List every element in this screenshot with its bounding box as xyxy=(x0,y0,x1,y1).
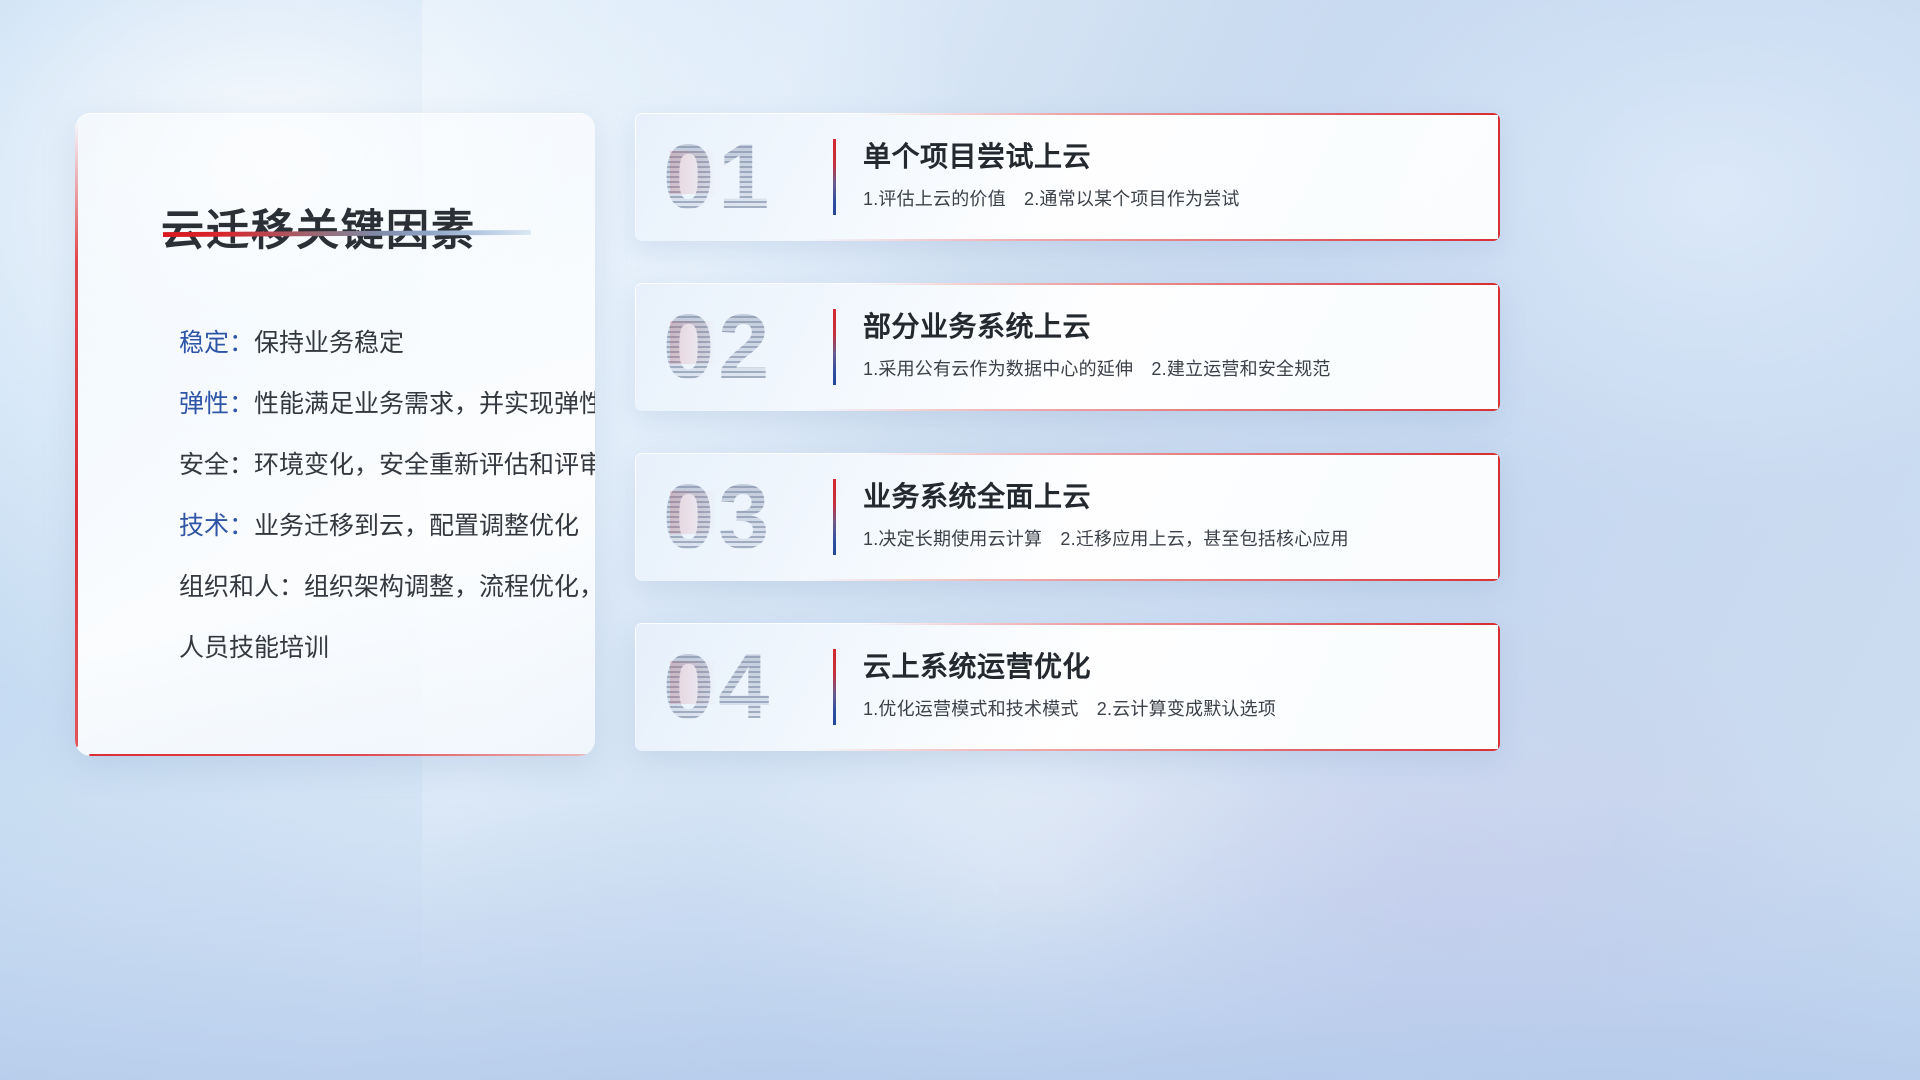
card-accent-bar xyxy=(833,309,836,385)
card-accent-bar xyxy=(833,479,836,555)
card-bottom-red-rule xyxy=(808,409,1500,411)
background-bottom-shade xyxy=(0,799,1920,1080)
stage-title: 部分业务系统上云 xyxy=(863,307,1474,347)
factor-label: 技术： xyxy=(179,512,254,540)
panel-top-highlight xyxy=(85,113,585,114)
factor-value: 人员技能培训 xyxy=(179,634,329,662)
card-right-red-rule xyxy=(1498,113,1500,241)
list-item: 弹性：性能满足业务需求，并实现弹性 xyxy=(179,374,569,435)
card-body: 云上系统运营优化 1.优化运营模式和技术模式 2.云计算变成默认选项 xyxy=(863,647,1474,722)
factor-value: 环境变化，安全重新评估和评审 xyxy=(254,451,595,479)
card-accent-bar xyxy=(833,649,836,725)
card-body: 部分业务系统上云 1.采用公有云作为数据中心的延伸 2.建立运营和安全规范 xyxy=(863,307,1474,382)
card-top-red-rule xyxy=(860,113,1500,115)
factor-label: 稳定： xyxy=(179,329,254,357)
stage-card[interactable]: 01 单个项目尝试上云 1.评估上云的价值 2.通常以某个项目作为尝试 xyxy=(635,113,1500,241)
stage-number: 02 xyxy=(663,301,773,393)
key-factors-list: 稳定：保持业务稳定 弹性：性能满足业务需求，并实现弹性 安全：环境变化，安全重新… xyxy=(179,313,569,679)
stage-number: 01 xyxy=(663,131,773,223)
factor-value: 业务迁移到云，配置调整优化 xyxy=(254,512,579,540)
factor-label: 组织和人： xyxy=(179,573,304,601)
stage-number: 04 xyxy=(663,641,773,733)
stage-card[interactable]: 04 云上系统运营优化 1.优化运营模式和技术模式 2.云计算变成默认选项 xyxy=(635,623,1500,751)
list-item: 稳定：保持业务稳定 xyxy=(179,313,569,374)
panel-left-red-edge xyxy=(75,122,78,747)
list-item: 组织和人：组织架构调整，流程优化， xyxy=(179,557,569,618)
card-top-red-rule xyxy=(860,453,1500,455)
stage-description: 1.采用公有云作为数据中心的延伸 2.建立运营和安全规范 xyxy=(863,356,1474,382)
factor-value: 保持业务稳定 xyxy=(254,329,404,357)
card-top-red-rule xyxy=(860,283,1500,285)
factor-label: 安全： xyxy=(179,451,254,479)
card-left-highlight xyxy=(635,117,636,237)
card-body: 业务系统全面上云 1.决定长期使用云计算 2.迁移应用上云，甚至包括核心应用 xyxy=(863,477,1474,552)
card-body: 单个项目尝试上云 1.评估上云的价值 2.通常以某个项目作为尝试 xyxy=(863,137,1474,212)
stage-title: 单个项目尝试上云 xyxy=(863,137,1474,177)
list-item: 安全：环境变化，安全重新评估和评审 xyxy=(179,435,569,496)
card-accent-bar xyxy=(833,139,836,215)
factor-label: 弹性： xyxy=(179,390,254,418)
card-right-red-rule xyxy=(1498,453,1500,581)
list-item-continuation: 人员技能培训 xyxy=(179,618,569,679)
card-top-red-rule xyxy=(860,623,1500,625)
card-bottom-red-rule xyxy=(808,579,1500,581)
stage-title: 云上系统运营优化 xyxy=(863,647,1474,687)
stage-card-list: 01 单个项目尝试上云 1.评估上云的价值 2.通常以某个项目作为尝试 02 部… xyxy=(635,113,1500,793)
stage-card[interactable]: 02 部分业务系统上云 1.采用公有云作为数据中心的延伸 2.建立运营和安全规范 xyxy=(635,283,1500,411)
card-bottom-red-rule xyxy=(808,749,1500,751)
card-right-red-rule xyxy=(1498,623,1500,751)
factor-value: 性能满足业务需求，并实现弹性 xyxy=(254,390,595,418)
list-item: 技术：业务迁移到云，配置调整优化 xyxy=(179,496,569,557)
panel-bottom-red-edge xyxy=(89,754,589,757)
card-right-red-rule xyxy=(1498,283,1500,411)
card-left-highlight xyxy=(635,627,636,747)
stage-title: 业务系统全面上云 xyxy=(863,477,1474,517)
stage-description: 1.优化运营模式和技术模式 2.云计算变成默认选项 xyxy=(863,696,1474,722)
page-title: 云迁移关键因素 xyxy=(161,196,476,258)
stage-card[interactable]: 03 业务系统全面上云 1.决定长期使用云计算 2.迁移应用上云，甚至包括核心应… xyxy=(635,453,1500,581)
card-left-highlight xyxy=(635,287,636,407)
stage-description: 1.决定长期使用云计算 2.迁移应用上云，甚至包括核心应用 xyxy=(863,526,1474,552)
card-left-highlight xyxy=(635,457,636,577)
key-factors-panel: 云迁移关键因素 稳定：保持业务稳定 弹性：性能满足业务需求，并实现弹性 安全：环… xyxy=(75,113,595,756)
stage-number: 03 xyxy=(663,471,773,563)
stage-description: 1.评估上云的价值 2.通常以某个项目作为尝试 xyxy=(863,186,1474,212)
card-bottom-red-rule xyxy=(808,239,1500,241)
factor-value: 组织架构调整，流程优化， xyxy=(304,573,595,601)
